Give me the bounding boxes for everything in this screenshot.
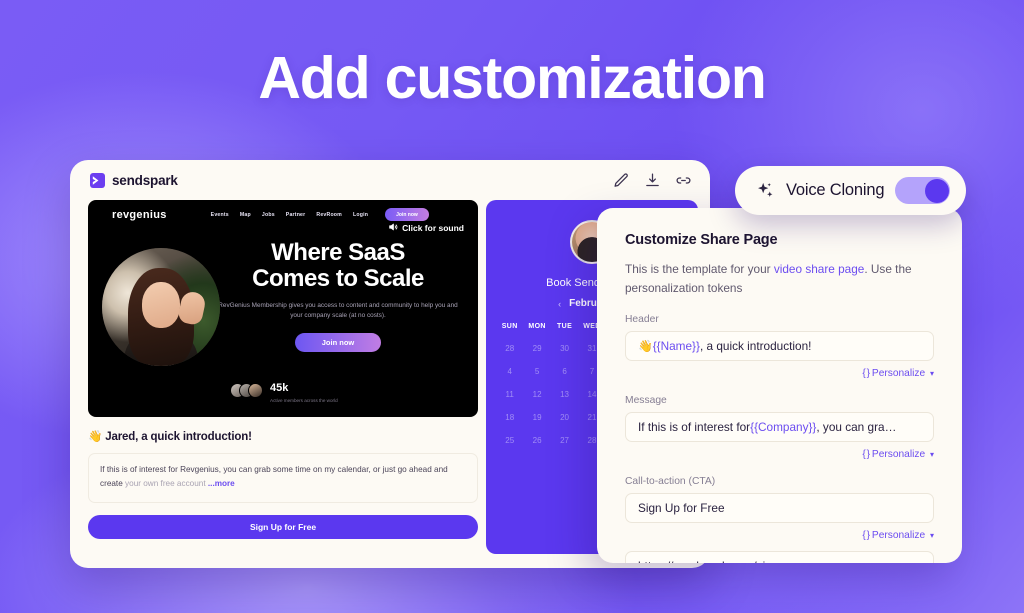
brand[interactable]: sendspark bbox=[90, 173, 178, 188]
headline-emoji: 👋 bbox=[88, 431, 102, 443]
video-hero-subtitle: RevGenius Membership gives you access to… bbox=[208, 301, 468, 322]
click-for-sound[interactable]: Click for sound bbox=[388, 222, 464, 234]
revgenius-nav-links: Events Map Jobs Partner RevRoom Login Jo… bbox=[211, 208, 429, 221]
calendar-day[interactable]: 6 bbox=[551, 367, 578, 376]
header-personalize-button[interactable]: { } Personalize ▾ bbox=[625, 368, 934, 379]
calendar-dow: TUE bbox=[551, 323, 578, 330]
video-member-stat: 45k Active members across the world bbox=[230, 378, 338, 403]
header-token: {{Name}} bbox=[653, 339, 700, 353]
calendar-day[interactable]: 20 bbox=[551, 413, 578, 422]
video-column: revgenius Events Map Jobs Partner RevRoo… bbox=[88, 200, 478, 554]
speaker-icon bbox=[388, 222, 398, 234]
video-hero-copy: Where SaaS Comes to Scale RevGenius Memb… bbox=[208, 240, 468, 352]
customize-panel-description: This is the template for your video shar… bbox=[625, 260, 934, 298]
app-topbar: sendspark bbox=[70, 160, 710, 200]
page-title: Add customization bbox=[0, 48, 1024, 110]
member-count-label: Active members across the world bbox=[270, 398, 338, 403]
revgenius-logo: revgenius bbox=[112, 209, 167, 221]
cta-input[interactable]: Sign Up for Free bbox=[625, 493, 934, 523]
cta-value: Sign Up for Free bbox=[638, 501, 725, 515]
header-prefix: 👋 bbox=[638, 339, 653, 353]
message-field-label: Message bbox=[625, 395, 934, 406]
nav-link-events: Events bbox=[211, 212, 229, 218]
braces-icon: { } bbox=[862, 368, 869, 379]
message-faded: your own free account bbox=[125, 479, 206, 488]
calendar-day[interactable]: 4 bbox=[496, 367, 523, 376]
cta-url-value: https://sendspark.com/signup bbox=[638, 559, 791, 563]
calendar-day[interactable]: 29 bbox=[523, 344, 550, 353]
description-part1: This is the template for your bbox=[625, 262, 774, 276]
link-icon[interactable] bbox=[675, 172, 692, 189]
calendar-day[interactable]: 26 bbox=[523, 436, 550, 445]
share-page-cta-button[interactable]: Sign Up for Free bbox=[88, 515, 478, 539]
member-count: 45k bbox=[270, 382, 288, 394]
prev-month-button[interactable]: ‹ bbox=[558, 299, 561, 309]
header-field-label: Header bbox=[625, 314, 934, 325]
cta-field-label: Call-to-action (CTA) bbox=[625, 476, 934, 487]
calendar-day[interactable]: 25 bbox=[496, 436, 523, 445]
header-field-block: Header 👋 {{Name}}, a quick introduction!… bbox=[625, 314, 934, 379]
revgenius-navbar: revgenius Events Map Jobs Partner RevRoo… bbox=[88, 208, 478, 221]
edit-icon[interactable] bbox=[613, 172, 630, 189]
calendar-dow: SUN bbox=[496, 323, 523, 330]
member-stat-text: 45k Active members across the world bbox=[270, 378, 338, 403]
nav-link-revroom: RevRoom bbox=[316, 212, 342, 218]
nav-join-now-button: Join now bbox=[385, 208, 429, 221]
calendar-day[interactable]: 30 bbox=[551, 344, 578, 353]
personalize-label: Personalize bbox=[872, 449, 925, 460]
brand-name: sendspark bbox=[112, 173, 178, 188]
personalize-label: Personalize bbox=[872, 530, 925, 541]
toggle-knob bbox=[925, 179, 949, 203]
hero-title-line1: Where SaaS bbox=[208, 240, 468, 266]
calendar-day[interactable]: 13 bbox=[551, 390, 578, 399]
chevron-down-icon: ▾ bbox=[930, 369, 934, 378]
calendar-day[interactable]: 27 bbox=[551, 436, 578, 445]
hero-title-line2: Comes to Scale bbox=[208, 266, 468, 292]
video-share-page-link[interactable]: video share page bbox=[774, 262, 865, 276]
calendar-day[interactable]: 12 bbox=[523, 390, 550, 399]
calendar-dow: MON bbox=[523, 323, 550, 330]
topbar-actions bbox=[613, 172, 692, 189]
member-avatars bbox=[230, 383, 263, 398]
download-icon[interactable] bbox=[644, 172, 661, 189]
presenter-video-bubble bbox=[102, 248, 220, 366]
nav-link-jobs: Jobs bbox=[262, 212, 275, 218]
message-input[interactable]: If this is of interest for {{Company}}, … bbox=[625, 412, 934, 442]
chevron-down-icon: ▾ bbox=[930, 450, 934, 459]
nav-link-map: Map bbox=[240, 212, 251, 218]
cta-url-field-block: https://sendspark.com/signup bbox=[625, 551, 934, 563]
voice-cloning-pill: Voice Cloning bbox=[735, 166, 966, 215]
calendar-day[interactable]: 28 bbox=[496, 344, 523, 353]
message-prefix: If this is of interest for bbox=[638, 420, 750, 434]
avatar bbox=[248, 383, 263, 398]
message-field-block: Message If this is of interest for {{Com… bbox=[625, 395, 934, 460]
nav-link-partner: Partner bbox=[286, 212, 306, 218]
share-page-message: If this is of interest for Revgenius, yo… bbox=[88, 453, 478, 503]
customize-panel-title: Customize Share Page bbox=[625, 232, 934, 248]
sound-hint-label: Click for sound bbox=[402, 223, 464, 233]
calendar-day[interactable]: 5 bbox=[523, 367, 550, 376]
voice-cloning-label: Voice Cloning bbox=[786, 181, 885, 200]
calendar-day[interactable]: 19 bbox=[523, 413, 550, 422]
nav-link-login: Login bbox=[353, 212, 368, 218]
video-hero-join-button: Join now bbox=[295, 333, 381, 352]
message-more-link[interactable]: ...more bbox=[208, 479, 235, 488]
braces-icon: { } bbox=[862, 530, 869, 541]
header-input[interactable]: 👋 {{Name}}, a quick introduction! bbox=[625, 331, 934, 361]
message-personalize-button[interactable]: { } Personalize ▾ bbox=[625, 449, 934, 460]
customize-share-page-panel: Customize Share Page This is the templat… bbox=[597, 208, 962, 563]
sparkles-icon bbox=[754, 180, 776, 202]
share-page-headline: 👋 Jared, a quick introduction! bbox=[88, 429, 478, 443]
sendspark-logo-icon bbox=[90, 173, 105, 188]
chevron-down-icon: ▾ bbox=[930, 531, 934, 540]
calendar-day[interactable]: 11 bbox=[496, 390, 523, 399]
video-thumbnail[interactable]: revgenius Events Map Jobs Partner RevRoo… bbox=[88, 200, 478, 417]
personalize-label: Personalize bbox=[872, 368, 925, 379]
header-suffix: , a quick introduction! bbox=[700, 339, 811, 353]
message-suffix: , you can gra… bbox=[816, 420, 896, 434]
voice-cloning-toggle[interactable] bbox=[895, 177, 950, 204]
cta-url-input[interactable]: https://sendspark.com/signup bbox=[625, 551, 934, 563]
cta-personalize-button[interactable]: { } Personalize ▾ bbox=[625, 530, 934, 541]
headline-text: Jared, a quick introduction! bbox=[105, 431, 252, 443]
video-hero-title: Where SaaS Comes to Scale bbox=[208, 240, 468, 292]
braces-icon: { } bbox=[862, 449, 869, 460]
calendar-day[interactable]: 18 bbox=[496, 413, 523, 422]
message-token: {{Company}} bbox=[750, 420, 816, 434]
cta-field-block: Call-to-action (CTA) Sign Up for Free { … bbox=[625, 476, 934, 541]
